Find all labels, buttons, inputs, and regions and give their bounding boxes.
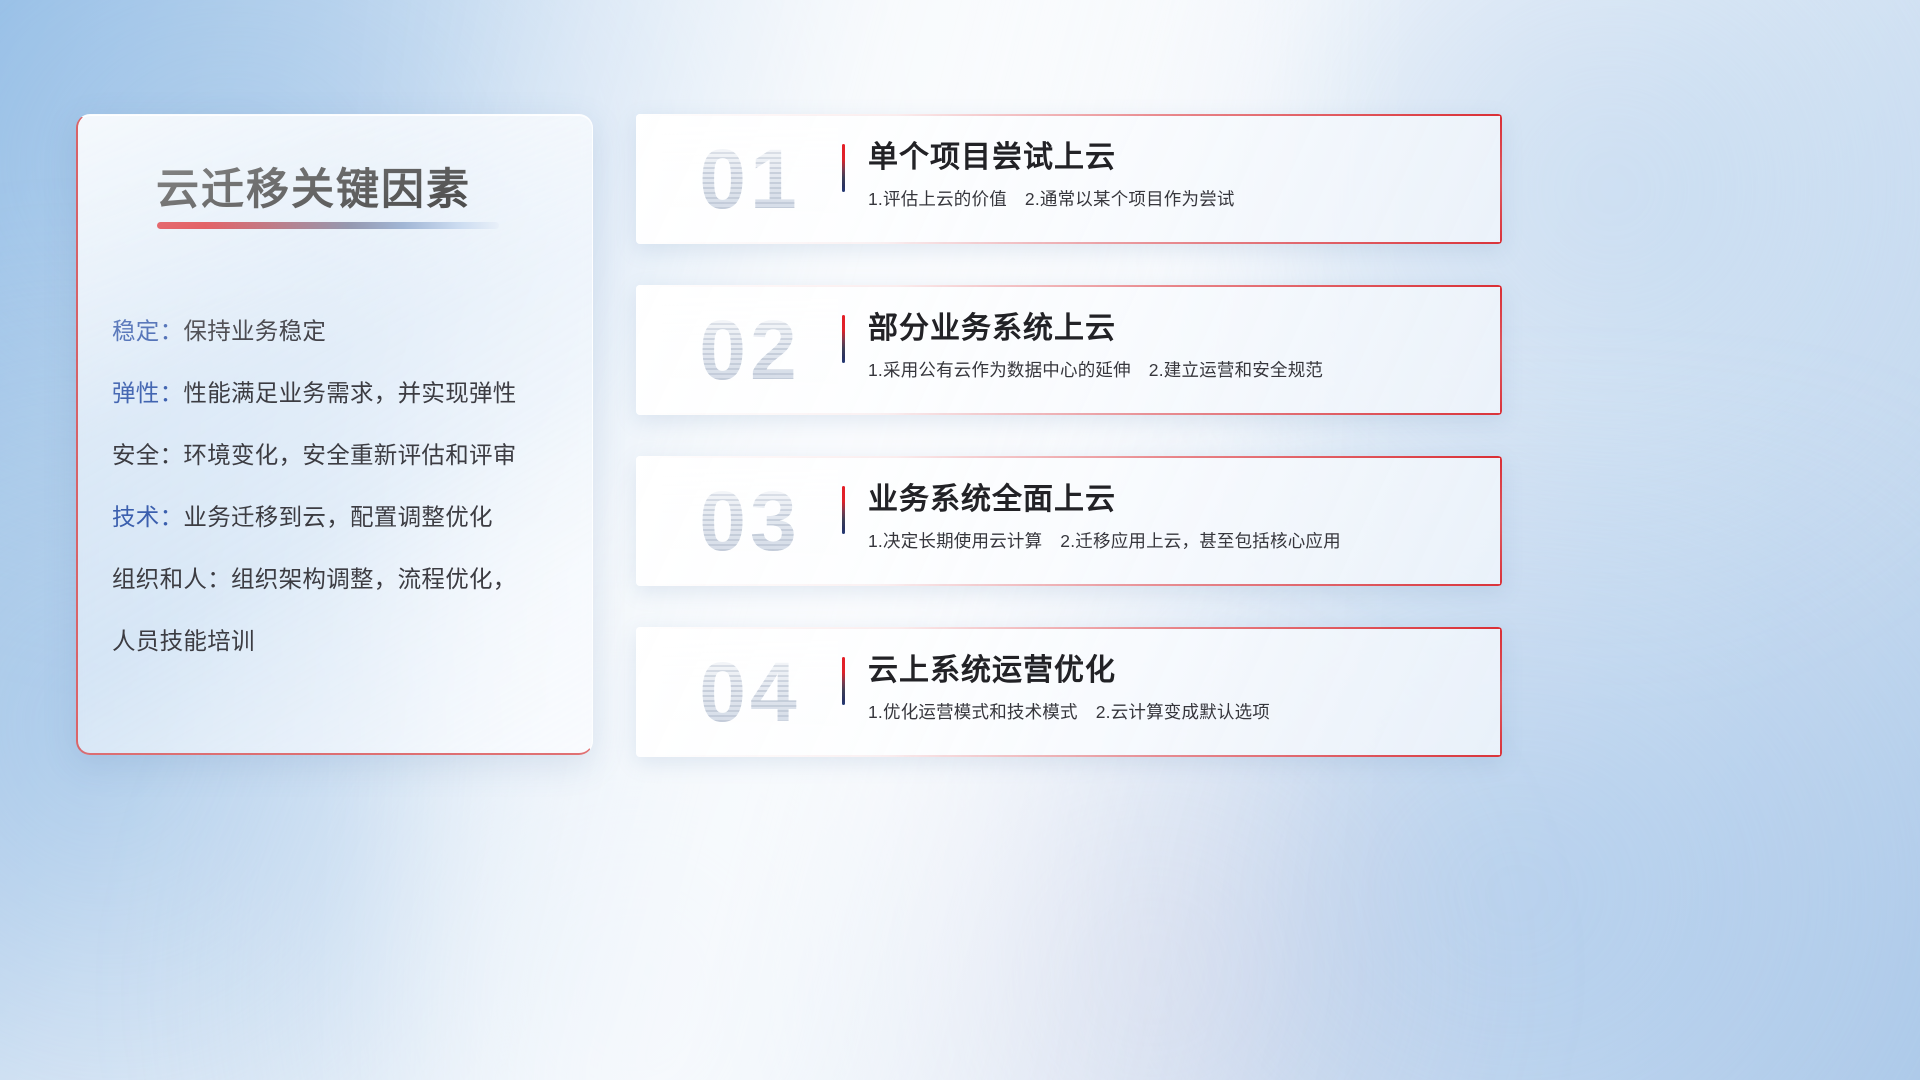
key-factors-list: 稳定：保持业务稳定 弹性：性能满足业务需求，并实现弹性 安全：环境变化，安全重新… [78,300,592,672]
list-item: 人员技能培训 [112,610,558,672]
stage-point-2: 2.迁移应用上云，甚至包括核心应用 [1060,531,1341,551]
panel-title: 云迁移关键因素 [156,155,471,217]
stage-content: 云上系统运营优化 1.优化运营模式和技术模式2.云计算变成默认选项 [868,651,1476,724]
list-item-text: 人员技能培训 [112,628,255,654]
stage-title: 云上系统运营优化 [868,651,1476,691]
stage-card[interactable]: 01 单个项目尝试上云 1.评估上云的价值2.通常以某个项目作为尝试 [636,114,1502,244]
stage-card[interactable]: 02 部分业务系统上云 1.采用公有云作为数据中心的延伸2.建立运营和安全规范 [636,285,1502,415]
list-item-label: 组织和人： [112,566,231,592]
stage-point-1: 1.优化运营模式和技术模式 [868,702,1078,722]
card-edge-top [636,114,1502,116]
list-item: 组织和人：组织架构调整，流程优化， [112,548,558,610]
stage-content: 部分业务系统上云 1.采用公有云作为数据中心的延伸2.建立运营和安全规范 [868,309,1476,382]
card-edge-bottom [636,242,1502,244]
panel-title-underline [157,222,499,229]
list-item-label: 技术： [112,504,183,530]
stage-point-2: 2.建立运营和安全规范 [1149,360,1323,380]
list-item: 弹性：性能满足业务需求，并实现弹性 [112,362,558,424]
card-edge-top [636,456,1502,458]
list-item-text: 组织架构调整，流程优化， [231,566,517,592]
stage-number: 04 [662,640,838,744]
stage-point-2: 2.云计算变成默认选项 [1096,702,1270,722]
stage-divider-bar [842,486,845,534]
card-edge-right [1500,114,1502,244]
list-item-label: 安全： [112,442,183,468]
stage-title: 单个项目尝试上云 [868,138,1476,178]
stage-card-list: 01 单个项目尝试上云 1.评估上云的价值2.通常以某个项目作为尝试 02 部分… [636,114,1502,757]
list-item: 安全：环境变化，安全重新评估和评审 [112,424,558,486]
stage-point-1: 1.决定长期使用云计算 [868,531,1042,551]
stage-points: 1.决定长期使用云计算2.迁移应用上云，甚至包括核心应用 [868,529,1476,553]
list-item-text: 性能满足业务需求，并实现弹性 [183,380,516,406]
stage-divider-bar [842,144,845,192]
list-item-label: 稳定： [112,318,183,344]
list-item-text: 环境变化，安全重新评估和评审 [183,442,516,468]
card-edge-bottom [636,755,1502,757]
stage-point-1: 1.评估上云的价值 [868,189,1007,209]
card-edge-bottom [636,413,1502,415]
stage-number: 03 [662,469,838,573]
list-item-text: 保持业务稳定 [183,318,326,344]
stage-card[interactable]: 04 云上系统运营优化 1.优化运营模式和技术模式2.云计算变成默认选项 [636,627,1502,757]
card-edge-top [636,627,1502,629]
stage-title: 部分业务系统上云 [868,309,1476,349]
stage-point-2: 2.通常以某个项目作为尝试 [1025,189,1235,209]
stage-content: 业务系统全面上云 1.决定长期使用云计算2.迁移应用上云，甚至包括核心应用 [868,480,1476,553]
stage-divider-bar [842,657,845,705]
card-edge-top [636,285,1502,287]
list-item-text: 业务迁移到云，配置调整优化 [183,504,492,530]
card-edge-right [1500,285,1502,415]
stage-divider-bar [842,315,845,363]
stage-title: 业务系统全面上云 [868,480,1476,520]
stage-points: 1.评估上云的价值2.通常以某个项目作为尝试 [868,187,1476,211]
card-edge-bottom [636,584,1502,586]
card-edge-right [1500,456,1502,586]
list-item-label: 弹性： [112,380,183,406]
slide-canvas: 云迁移关键因素 稳定：保持业务稳定 弹性：性能满足业务需求，并实现弹性 安全：环… [0,0,1920,1080]
stage-number: 02 [662,298,838,402]
stage-point-1: 1.采用公有云作为数据中心的延伸 [868,360,1131,380]
list-item: 技术：业务迁移到云，配置调整优化 [112,486,558,548]
key-factors-panel: 云迁移关键因素 稳定：保持业务稳定 弹性：性能满足业务需求，并实现弹性 安全：环… [76,114,593,755]
stage-points: 1.采用公有云作为数据中心的延伸2.建立运营和安全规范 [868,358,1476,382]
stage-card[interactable]: 03 业务系统全面上云 1.决定长期使用云计算2.迁移应用上云，甚至包括核心应用 [636,456,1502,586]
stage-content: 单个项目尝试上云 1.评估上云的价值2.通常以某个项目作为尝试 [868,138,1476,211]
card-edge-right [1500,627,1502,757]
stage-number: 01 [662,127,838,231]
stage-points: 1.优化运营模式和技术模式2.云计算变成默认选项 [868,700,1476,724]
list-item: 稳定：保持业务稳定 [112,300,558,362]
